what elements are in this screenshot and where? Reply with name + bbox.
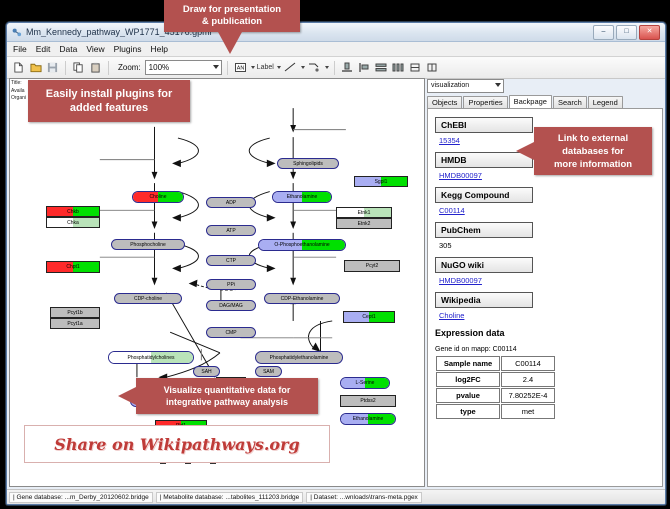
metabolite-label: ADP: [226, 200, 236, 206]
body-area: Title: Availa Organi: [7, 76, 665, 489]
expression-value: C00114: [501, 356, 555, 371]
metabolite-label: Phosphocholine: [130, 242, 166, 248]
callout-plugins: Easily install plugins for added feature…: [28, 80, 190, 122]
zoom-value: 100%: [149, 63, 169, 72]
callout-link-databases: Link to external databases for more info…: [534, 127, 652, 175]
metabolite-node[interactable]: SAH: [193, 366, 220, 377]
gene-node[interactable]: Cept1: [343, 311, 395, 323]
callout-plugins-line2: added features: [46, 101, 173, 115]
metabolite-node[interactable]: L-Serine: [340, 377, 390, 389]
gene-label: Ptdss2: [360, 398, 375, 404]
metabolite-label: Phosphatidylethanolamine: [270, 355, 329, 361]
menu-bar: File Edit Data View Plugins Help: [7, 42, 665, 57]
visualization-select-value: visualization: [431, 82, 469, 89]
gene-label: Chkb: [67, 209, 79, 215]
tab-search[interactable]: Search: [553, 96, 587, 109]
metabolite-node[interactable]: CMP: [206, 327, 256, 338]
gene-node[interactable]: Chka: [46, 217, 100, 228]
chevron-down-icon: [213, 65, 219, 69]
tab-backpage[interactable]: Backpage: [509, 95, 552, 109]
chevron-down-icon[interactable]: [301, 66, 305, 69]
database-name: Wikipedia: [435, 292, 533, 308]
side-panel: visualization Objects Properties Backpag…: [427, 78, 663, 487]
callout-draw: Draw for presentation & publication: [164, 0, 300, 32]
status-dataset: | Dataset: ...wnloads\trans-meta.pgex: [306, 492, 422, 503]
database-name: PubChem: [435, 222, 533, 238]
pathvisio-window: Mm_Kennedy_pathway_WP1771_45176.gpml – □…: [6, 22, 666, 505]
metabolite-node[interactable]: Ethanolamine: [340, 413, 396, 425]
toolbar-separator: [334, 61, 335, 75]
gene-node[interactable]: Etnk2: [336, 218, 392, 229]
database-link[interactable]: HMDB00097: [439, 276, 655, 285]
tab-properties[interactable]: Properties: [463, 96, 507, 109]
database-link[interactable]: Choline: [439, 311, 655, 320]
status-gene-database: | Gene database: ...m_Derby_20120602.bri…: [9, 492, 153, 503]
metabolite-node[interactable]: O-Phosphoethanolamine: [258, 239, 346, 251]
callout-visualize: Visualize quantitative data for integrat…: [136, 378, 318, 414]
database-name: Kegg Compound: [435, 187, 533, 203]
menu-item-file[interactable]: File: [13, 44, 27, 54]
metabolite-label: Phosphatidylcholines: [128, 355, 175, 361]
gene-label: Pcyt1a: [67, 321, 82, 327]
metabolite-label: CDP-Ethanolamine: [281, 296, 324, 302]
label-button[interactable]: Label: [257, 64, 274, 71]
database-section: PubChem305: [435, 220, 655, 250]
metabolite-node[interactable]: Choline: [132, 191, 184, 203]
metabolite-label: SAH: [201, 369, 211, 375]
svg-text:AN: AN: [236, 65, 244, 71]
expression-key: pvalue: [436, 388, 500, 403]
callout-draw-tail: [218, 32, 242, 54]
gene-node[interactable]: Pcyt1a: [50, 318, 100, 329]
callout-visualize-line2: integrative pathway analysis: [164, 396, 291, 408]
metabolite-node[interactable]: ATP: [206, 225, 256, 236]
side-panel-tabs: Objects Properties Backpage Search Legen…: [427, 95, 663, 108]
metabolite-label: Ethanolamine: [353, 416, 384, 422]
callout-link-line2: databases for: [554, 145, 632, 158]
chevron-down-icon[interactable]: [251, 66, 255, 69]
pathway-canvas[interactable]: Title: Availa Organi: [9, 78, 425, 487]
new-file-icon[interactable]: [11, 60, 26, 75]
expression-value: 2.4: [501, 372, 555, 387]
metabolite-node[interactable]: Phosphatidylcholines: [108, 351, 194, 364]
expression-key: type: [436, 404, 500, 419]
status-metabolite-database: | Metabolite database: ...tabolites_1112…: [156, 492, 304, 503]
metabolite-node[interactable]: CDP-choline: [114, 293, 182, 304]
database-value: 305: [439, 241, 655, 250]
datanode-icon[interactable]: AN: [233, 60, 248, 75]
gene-node[interactable]: Etnk1: [336, 207, 392, 218]
screenshot-root: Mm_Kennedy_pathway_WP1771_45176.gpml – □…: [0, 0, 670, 509]
gene-label: Chpt1: [66, 264, 79, 270]
common-width-icon[interactable]: [408, 60, 423, 75]
metabolite-label: ATP: [226, 228, 235, 234]
share-banner-text: Share on Wikipathways.org: [54, 435, 299, 454]
metabolite-node[interactable]: DAG/MAG: [206, 300, 256, 311]
align-bottom-icon[interactable]: [340, 60, 355, 75]
menu-item-plugins[interactable]: Plugins: [114, 44, 142, 54]
window-controls: – □ ✕: [593, 25, 661, 40]
menu-item-view[interactable]: View: [86, 44, 104, 54]
close-button[interactable]: ✕: [639, 25, 660, 40]
gene-id-label: Gene id on mapp: C00114: [435, 346, 655, 353]
metabolite-node[interactable]: PPi: [206, 279, 256, 290]
table-row: Sample nameC00114: [436, 356, 555, 371]
callout-link-line3: more information: [554, 158, 632, 171]
menu-item-help[interactable]: Help: [151, 44, 168, 54]
table-row: typemet: [436, 404, 555, 419]
callout-link-line1: Link to external: [554, 132, 632, 145]
title-bar: Mm_Kennedy_pathway_WP1771_45176.gpml – □…: [7, 23, 665, 42]
menu-item-edit[interactable]: Edit: [36, 44, 51, 54]
visualization-bar: visualization: [427, 78, 663, 93]
metabolite-label: PPi: [227, 282, 235, 288]
chevron-down-icon: [495, 83, 501, 87]
chevron-down-icon[interactable]: [277, 66, 281, 69]
copy-icon[interactable]: [71, 60, 86, 75]
maximize-button[interactable]: □: [616, 25, 637, 40]
metabolite-node[interactable]: Phosphocholine: [111, 239, 185, 250]
metabolite-label: SAM: [263, 369, 274, 375]
pathvisio-icon: [11, 27, 22, 38]
backpage-panel[interactable]: ChEBI15354HMDBHMDB00097Kegg CompoundC001…: [427, 108, 663, 487]
database-link[interactable]: C00114: [439, 206, 655, 215]
gene-node[interactable]: Pcyt1b: [50, 307, 100, 318]
gene-node[interactable]: Pcyt2: [344, 260, 400, 272]
metabolite-label: CTP: [226, 258, 236, 264]
minimize-button[interactable]: –: [593, 25, 614, 40]
expression-key: Sample name: [436, 356, 500, 371]
metabolite-node[interactable]: SAM: [255, 366, 282, 377]
metabolite-node[interactable]: Phosphatidylethanolamine: [255, 351, 343, 364]
metabolite-label: Sphingolipids: [293, 161, 323, 167]
table-row: log2FC2.4: [436, 372, 555, 387]
callout-plugins-tail: [72, 78, 96, 79]
paste-icon[interactable]: [88, 60, 103, 75]
tab-objects[interactable]: Objects: [427, 96, 462, 109]
metabolite-label: Ethanolamine: [287, 194, 318, 200]
gene-node[interactable]: Sgpl1: [354, 176, 408, 187]
toolbar-separator: [108, 61, 109, 75]
tab-legend[interactable]: Legend: [588, 96, 623, 109]
gene-label: Cept1: [362, 314, 375, 320]
metabolite-node[interactable]: CDP-Ethanolamine: [264, 293, 340, 304]
metabolite-label: CDP-choline: [134, 296, 162, 302]
metabolite-label: DAG/MAG: [219, 303, 243, 309]
callout-visualize-tail: [118, 387, 136, 405]
align-left-icon[interactable]: [357, 60, 372, 75]
gene-label: Etnk2: [358, 221, 371, 227]
callout-draw-line2: & publication: [183, 16, 281, 28]
line-icon[interactable]: [283, 60, 298, 75]
chevron-down-icon[interactable]: [325, 66, 329, 69]
share-banner: Share on Wikipathways.org: [24, 425, 330, 463]
expression-key: log2FC: [436, 372, 500, 387]
gene-label: Sgpl1: [375, 179, 388, 185]
visualization-select[interactable]: visualization: [427, 79, 504, 93]
metabolite-label: Choline: [150, 194, 167, 200]
database-section: NuGO wikiHMDB00097: [435, 255, 655, 285]
callout-visualize-line1: Visualize quantitative data for: [164, 384, 291, 396]
database-section: Kegg CompoundC00114: [435, 185, 655, 215]
menu-item-data[interactable]: Data: [59, 44, 77, 54]
metabolite-node[interactable]: Ethanolamine: [272, 191, 332, 203]
gene-node[interactable]: Chpt1: [46, 261, 100, 273]
expression-table: Sample nameC00114log2FC2.4pvalue7.80252E…: [435, 355, 556, 420]
label-button-text: Label: [257, 64, 274, 71]
gene-label: Pcyt2: [366, 263, 379, 269]
expression-value: 7.80252E-4: [501, 388, 555, 403]
toolbar-separator: [227, 61, 228, 75]
gene-node[interactable]: Chkb: [46, 206, 100, 217]
save-icon[interactable]: [45, 60, 60, 75]
zoom-label: Zoom:: [118, 63, 141, 72]
metabolite-label: O-Phosphoethanolamine: [274, 242, 329, 248]
expression-data-heading: Expression data: [435, 328, 655, 338]
gene-node[interactable]: Ptdss2: [340, 395, 396, 407]
anchor-icon[interactable]: [307, 60, 322, 75]
metabolite-node[interactable]: ADP: [206, 197, 256, 208]
table-row: pvalue7.80252E-4: [436, 388, 555, 403]
callout-plugins-line1: Easily install plugins for: [46, 87, 173, 101]
gene-label: Chka: [67, 220, 79, 226]
metabolite-label: L-Serine: [356, 380, 375, 386]
metabolite-label: CMP: [225, 330, 236, 336]
database-section: WikipediaCholine: [435, 290, 655, 320]
common-height-icon[interactable]: [425, 60, 440, 75]
gene-label: Pcyt1b: [67, 310, 82, 316]
status-bar: | Gene database: ...m_Derby_20120602.bri…: [7, 489, 665, 504]
callout-link-tail: [516, 142, 534, 160]
zoom-select[interactable]: 100%: [145, 60, 222, 75]
expression-value: met: [501, 404, 555, 419]
toolbar-separator: [65, 61, 66, 75]
metabolite-node[interactable]: CTP: [206, 255, 256, 266]
database-name: ChEBI: [435, 117, 533, 133]
open-folder-icon[interactable]: [28, 60, 43, 75]
stack-icon[interactable]: [374, 60, 389, 75]
callout-draw-line1: Draw for presentation: [183, 4, 281, 16]
metabolite-node[interactable]: Sphingolipids: [277, 158, 339, 169]
distribute-icon[interactable]: [391, 60, 406, 75]
database-name: NuGO wiki: [435, 257, 533, 273]
gene-label: Etnk1: [358, 210, 371, 216]
